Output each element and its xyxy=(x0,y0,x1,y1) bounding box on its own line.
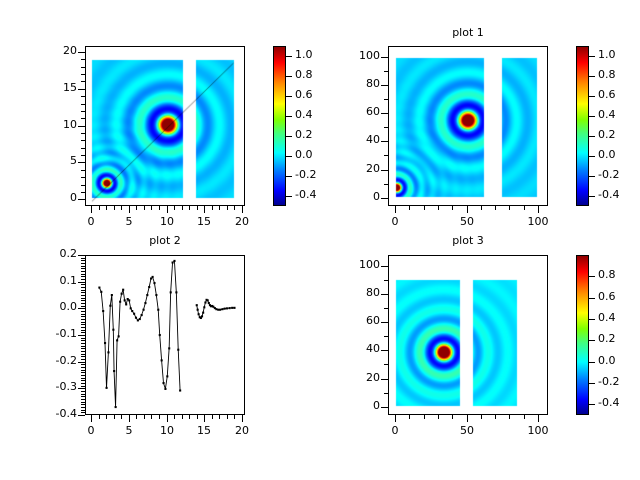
axis-tick xyxy=(481,415,482,419)
axis-tick xyxy=(384,308,388,309)
axis-tick xyxy=(424,415,425,419)
axis-tick xyxy=(438,415,439,419)
axis-tick xyxy=(509,415,510,419)
axis-tick-label: 50 xyxy=(451,424,483,437)
axis-tick xyxy=(452,415,453,419)
axis-tick-label: 80 xyxy=(340,286,380,299)
axis-tick xyxy=(495,415,496,419)
axis-tick-label: 60 xyxy=(340,314,380,327)
axis-tick-label: 0 xyxy=(340,399,380,412)
axis-tick-label: 100 xyxy=(522,424,554,437)
axis-tick xyxy=(524,415,525,419)
axis-tick xyxy=(381,266,388,267)
axis-tick xyxy=(538,415,539,422)
axis-tick xyxy=(467,415,468,422)
axis-tick xyxy=(384,393,388,394)
axis-tick-label: 40 xyxy=(340,342,380,355)
figure-canvas: 1.00.80.60.40.20.0-0.2-0.4 0510152005101… xyxy=(0,0,640,480)
axis-tick xyxy=(381,322,388,323)
axis-tick xyxy=(384,280,388,281)
axis-tick-label: 20 xyxy=(340,371,380,384)
axis-tick xyxy=(381,379,388,380)
axis-tick xyxy=(395,415,396,422)
axis-tick xyxy=(381,407,388,408)
axis-tick xyxy=(384,364,388,365)
axis-tick-label: 100 xyxy=(340,258,380,271)
axis-tick xyxy=(381,350,388,351)
axis-tick-label: 0 xyxy=(379,424,411,437)
axis-tick xyxy=(384,336,388,337)
axis-tick xyxy=(409,415,410,419)
panel-bottom-right-axes: 050100020406080100 xyxy=(0,0,640,480)
axis-tick xyxy=(381,294,388,295)
